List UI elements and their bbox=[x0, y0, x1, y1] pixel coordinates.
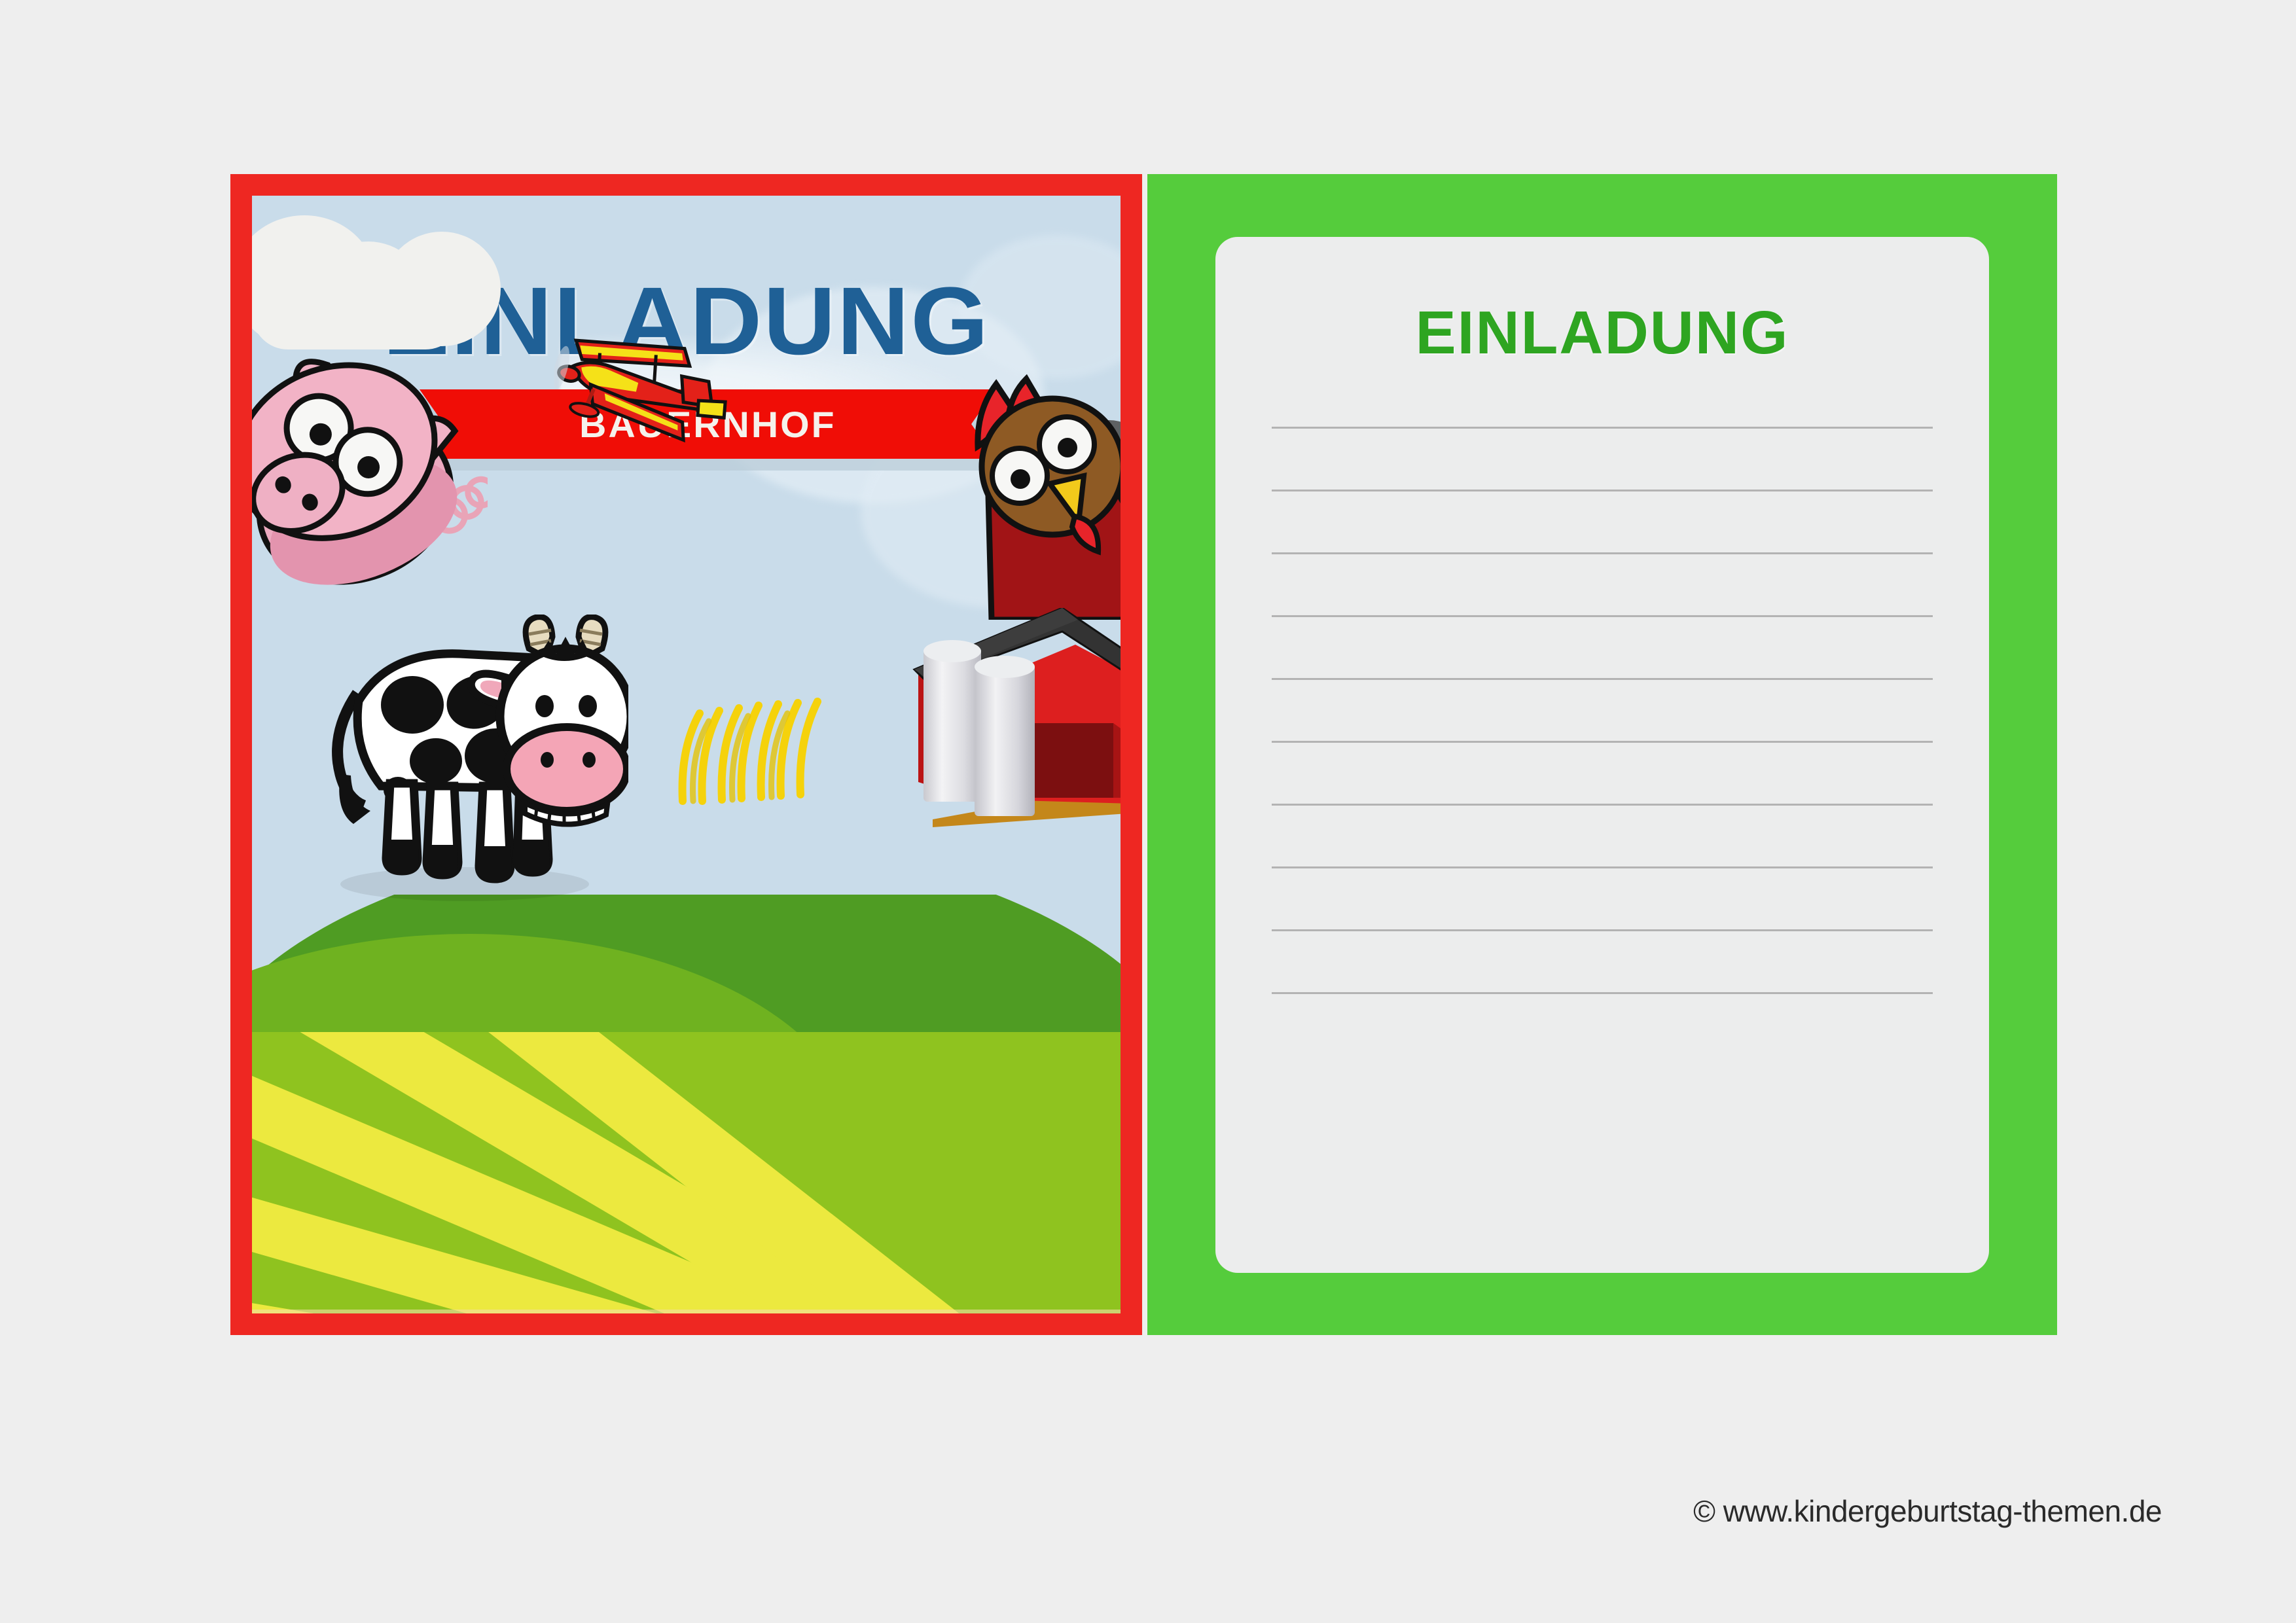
silo-illustration bbox=[920, 634, 1057, 830]
writing-line[interactable] bbox=[1272, 615, 1933, 617]
invitation-back-card: EINLADUNG bbox=[1147, 174, 2057, 1335]
writing-line[interactable] bbox=[1272, 490, 1933, 491]
cow-illustration bbox=[321, 615, 628, 902]
writing-line[interactable] bbox=[1272, 678, 1933, 680]
pig-illustration bbox=[252, 323, 488, 598]
copyright-credit: © www.kindergeburtstag-themen.de bbox=[1693, 1493, 2162, 1529]
writing-line[interactable] bbox=[1272, 804, 1933, 806]
back-title: EINLADUNG bbox=[1215, 298, 1989, 368]
writing-lines bbox=[1272, 427, 1933, 1055]
field-stripes bbox=[252, 1032, 1121, 1313]
rooster-illustration bbox=[969, 345, 1121, 620]
biplane-illustration bbox=[554, 324, 731, 455]
invitation-front-artwork: EINLADUNG BAUERNHOF bbox=[252, 196, 1121, 1313]
writing-line[interactable] bbox=[1272, 992, 1933, 994]
farm-ground bbox=[252, 895, 1121, 1313]
invitation-canvas: EINLADUNG BAUERNHOF bbox=[0, 0, 2296, 1623]
writing-line[interactable] bbox=[1272, 866, 1933, 868]
field-edge bbox=[252, 1310, 1121, 1313]
wheat-illustration bbox=[671, 651, 834, 808]
writing-paper: EINLADUNG bbox=[1215, 237, 1989, 1273]
writing-line[interactable] bbox=[1272, 427, 1933, 429]
writing-line[interactable] bbox=[1272, 741, 1933, 743]
invitation-front-card: EINLADUNG BAUERNHOF bbox=[230, 174, 1142, 1335]
writing-line[interactable] bbox=[1272, 929, 1933, 931]
writing-line[interactable] bbox=[1272, 552, 1933, 554]
